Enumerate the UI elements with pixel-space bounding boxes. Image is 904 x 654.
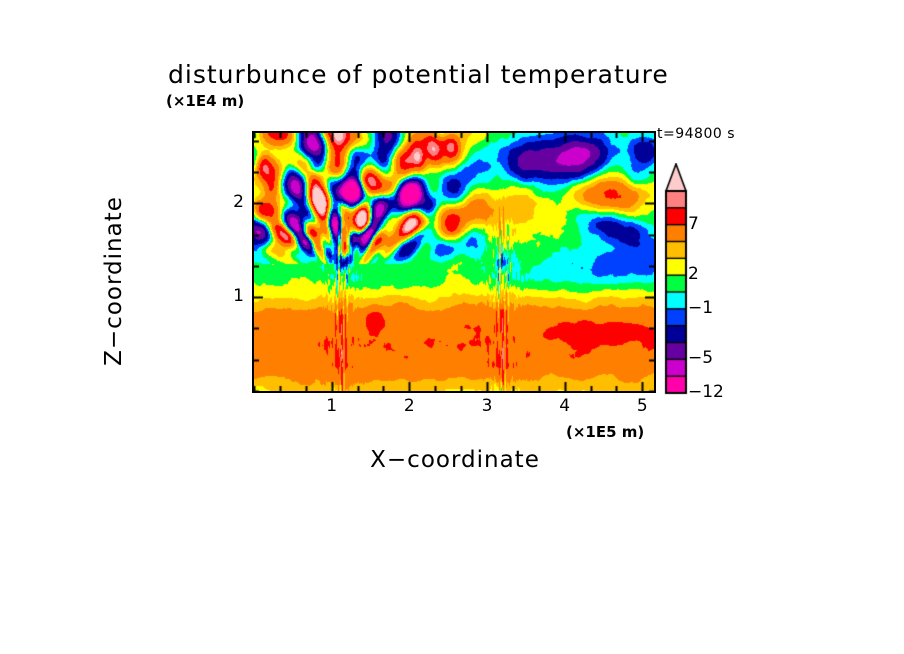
colorbar-tick-label: −5 <box>688 348 713 368</box>
contour-field <box>254 133 654 391</box>
x-tick-label: 3 <box>474 396 500 416</box>
page-title: disturbunce of potential temperature <box>168 60 748 89</box>
x-tick-label: 2 <box>396 396 422 416</box>
timestamp-label: t=94800 s <box>657 126 735 142</box>
y-tick-label: 2 <box>218 192 244 212</box>
colorbar-tick-label: 2 <box>688 264 699 284</box>
colorbar-tick-label: −12 <box>688 382 724 402</box>
contour-plot-area <box>252 131 656 393</box>
z-axis-units-label: (×1E4 m) <box>166 92 244 110</box>
x-tick-label: 1 <box>319 396 345 416</box>
figure-canvas: disturbunce of potential temperature (×1… <box>0 0 904 654</box>
colorbar-tick-label: 7 <box>688 214 699 234</box>
x-axis-units-label: (×1E5 m) <box>566 423 644 441</box>
colorbar-tick-label: −1 <box>688 298 713 318</box>
y-tick-label: 1 <box>218 286 244 306</box>
y-axis-title: Z−coordinate <box>101 161 127 401</box>
x-tick-label: 4 <box>552 396 578 416</box>
x-axis-title: X−coordinate <box>300 447 610 473</box>
x-tick-label: 5 <box>629 396 655 416</box>
